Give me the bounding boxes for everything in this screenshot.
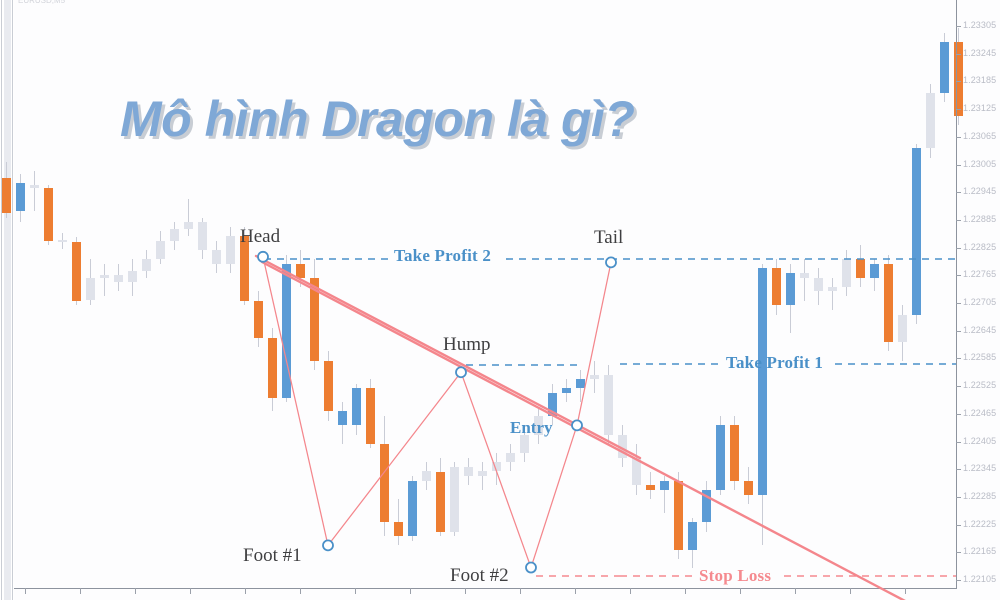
candle-body [730,425,739,480]
candle-body [912,148,921,314]
candle-body [842,259,851,287]
candlestick [898,305,907,360]
candle-body [884,264,893,342]
y-axis-label: 1.23005 [963,159,996,169]
y-axis-label: 1.22585 [963,352,996,362]
y-axis-tick [956,248,961,249]
candle-body [464,467,473,476]
candle-body [688,522,697,550]
y-axis-tick [956,303,961,304]
y-axis-tick [956,275,961,276]
candlestick [170,222,179,250]
candle-body [590,375,599,380]
candle-body [58,240,67,242]
candlestick [716,416,725,494]
x-axis-tick [740,588,741,594]
candle-body [408,481,417,536]
candle-body [352,388,361,425]
candlestick [786,264,795,333]
y-axis-tick [956,54,961,55]
y-axis-tick [956,109,961,110]
candle-body [366,388,375,443]
candle-wick [482,462,483,490]
candle-body [548,393,557,416]
candle-body [492,462,501,471]
candlestick [856,245,865,287]
y-axis-label: 1.22765 [963,269,996,279]
candle-body [436,472,445,532]
candlestick [506,444,515,472]
candle-body [478,471,487,476]
candlestick [744,467,753,504]
candle-body [16,183,25,211]
y-axis-label: 1.23185 [963,75,996,85]
y-axis-tick [956,192,961,193]
candlestick [44,185,53,245]
candlestick [324,351,333,420]
page-title: Mô hình Dragon là gì? [120,93,634,145]
label-head: Head [240,226,280,248]
candlestick [842,250,851,296]
candlestick [562,379,571,402]
candlestick [184,199,193,236]
label-stop-loss: Stop Loss [699,566,771,586]
x-axis-tick [795,588,796,594]
candlestick [870,259,879,291]
y-axis-tick [956,220,961,221]
candle-body [282,264,291,398]
y-axis-tick [956,497,961,498]
candlestick [142,250,151,278]
candle-body [338,411,347,425]
candlestick [16,174,25,222]
candlestick [730,416,739,490]
candle-body [646,485,655,490]
candlestick [198,218,207,260]
candlestick [674,472,683,560]
candle-body [2,178,11,213]
y-axis-tick [956,165,961,166]
y-axis-label: 1.22465 [963,408,996,418]
label-foot-2: Foot #2 [450,565,509,587]
y-axis-label: 1.22705 [963,297,996,307]
candlestick [408,476,417,541]
candle-body [450,467,459,532]
x-axis-tick [300,588,301,594]
candle-body [744,481,753,495]
y-axis-label: 1.22345 [963,463,996,473]
scrollbar-line-right [12,0,13,600]
x-axis-tick [190,588,191,594]
candle-wick [188,199,189,236]
x-axis-tick [465,588,466,594]
x-axis-tick [80,588,81,594]
label-take-profit-2: Take Profit 2 [394,246,491,266]
y-axis-tick [956,331,961,332]
y-axis-tick [956,469,961,470]
scrollbar-line-left [1,0,2,600]
candle-body [758,268,767,494]
candle-body [800,273,809,278]
candle-body [268,338,277,398]
y-axis-tick [956,580,961,581]
candlestick [618,425,627,467]
candle-body [142,259,151,271]
candlestick [72,237,81,305]
candlestick [492,453,501,485]
candlestick [828,278,837,310]
candle-body [870,264,879,278]
candle-body [786,273,795,305]
candlestick [926,84,935,158]
candlestick [772,259,781,314]
candlestick [156,231,165,263]
candle-body [296,264,305,278]
candle-body [828,287,837,292]
candlestick [954,28,963,125]
x-axis-tick [685,588,686,594]
x-axis-tick [630,588,631,594]
candle-body [226,236,235,264]
candlestick [128,259,137,296]
x-axis-tick [905,588,906,594]
y-axis-tick [956,386,961,387]
y-axis-label: 1.22945 [963,186,996,196]
x-axis-tick [355,588,356,594]
candlestick [688,518,697,569]
y-axis-label: 1.22825 [963,242,996,252]
candle-wick [34,171,35,210]
y-axis-tick [956,358,961,359]
y-axis-label: 1.22225 [963,519,996,529]
candle-body [114,275,123,282]
x-axis-tick [245,588,246,594]
chart-symbol-watermark: EURUSD,M5 [18,0,65,5]
candlestick [100,264,109,296]
candlestick [912,144,921,324]
candlestick [464,458,473,486]
candle-body [72,242,81,301]
candle-body [604,375,613,435]
candlestick [814,268,823,305]
candle-body [660,481,669,490]
x-axis-tick [25,588,26,594]
candle-body [422,471,431,480]
x-axis-line [14,588,956,589]
vertical-scrollbar[interactable] [0,0,14,600]
candle-body [394,522,403,536]
candle-body [898,315,907,343]
candlestick [2,162,11,217]
candle-body [324,361,333,412]
candlestick [310,259,319,370]
candlestick [212,241,221,273]
candlestick [296,250,305,287]
candlestick [632,444,641,495]
candlestick [702,481,711,532]
candle-body [702,490,711,522]
candlestick [576,370,585,402]
x-axis-tick [520,588,521,594]
candle-wick [832,278,833,310]
y-axis-label: 1.23245 [963,48,996,58]
candlestick [940,33,949,102]
y-axis-label: 1.22645 [963,325,996,335]
candlestick [366,379,375,448]
chart-screenshot: EURUSD,M5 1.233051.232451.231851.231251.… [0,0,1000,600]
candlestick [254,291,263,346]
y-axis-tick [956,552,961,553]
candle-body [44,188,53,241]
candle-body [618,435,627,458]
x-axis-tick [850,588,851,594]
y-axis-label: 1.23065 [963,131,996,141]
candle-body [632,458,641,486]
candlestick [436,458,445,536]
candle-body [128,271,137,283]
candle-body [30,185,39,187]
y-axis-label: 1.22885 [963,214,996,224]
candlestick [604,365,613,443]
label-entry: Entry [510,418,553,438]
candle-body [562,388,571,393]
y-axis-label: 1.22105 [963,574,996,584]
y-axis-tick [956,26,961,27]
y-axis-label: 1.22525 [963,380,996,390]
candlestick [590,361,599,393]
candlestick [380,416,389,536]
candlestick [338,402,347,444]
candlestick [86,259,95,305]
candle-body [940,42,949,93]
candlestick [646,472,655,500]
candle-body [506,453,515,462]
candle-body [926,93,935,148]
candle-body [184,222,193,229]
candlestick [58,233,67,249]
y-axis-line [956,0,957,589]
y-axis-tick [956,414,961,415]
y-axis-label: 1.22285 [963,491,996,501]
x-axis-tick [410,588,411,594]
candle-body [674,481,683,550]
y-axis-label: 1.22165 [963,546,996,556]
candlestick [422,462,431,490]
candle-body [254,301,263,338]
candle-wick [104,264,105,296]
candle-body [212,250,221,264]
candlestick [800,259,809,301]
candle-body [380,444,389,522]
y-axis-tick [956,442,961,443]
candlestick [660,476,669,513]
candlestick [226,227,235,273]
y-axis-label: 1.22405 [963,436,996,446]
candlestick [884,255,893,352]
candle-body [814,278,823,292]
y-axis-label: 1.23305 [963,20,996,30]
candle-body [576,379,585,388]
x-axis-tick [575,588,576,594]
y-axis-tick [956,525,961,526]
y-axis-tick [956,81,961,82]
y-axis-label: 1.23125 [963,103,996,113]
candlestick [450,462,459,536]
candlestick [268,328,277,411]
candle-wick [804,259,805,301]
candle-body [856,259,865,277]
candlestick [352,384,361,435]
label-tail: Tail [594,227,623,249]
label-foot-1: Foot #1 [243,545,302,567]
candlestick [758,264,767,546]
candlestick [30,171,39,210]
candle-body [100,275,109,277]
label-hump: Hump [443,334,491,356]
vertical-scrollbar-thumb[interactable] [4,0,11,600]
candlestick [282,255,291,403]
label-take-profit-1: Take Profit 1 [726,353,823,373]
candle-body [170,229,179,241]
x-axis-tick [135,588,136,594]
candlestick [394,499,403,545]
candlestick [478,462,487,490]
candle-body [772,268,781,305]
candle-body [156,241,165,259]
candle-body [198,222,207,250]
candle-body [310,278,319,361]
candlestick [114,264,123,292]
y-axis-tick [956,137,961,138]
candle-body [86,278,95,300]
candle-body [716,425,725,490]
